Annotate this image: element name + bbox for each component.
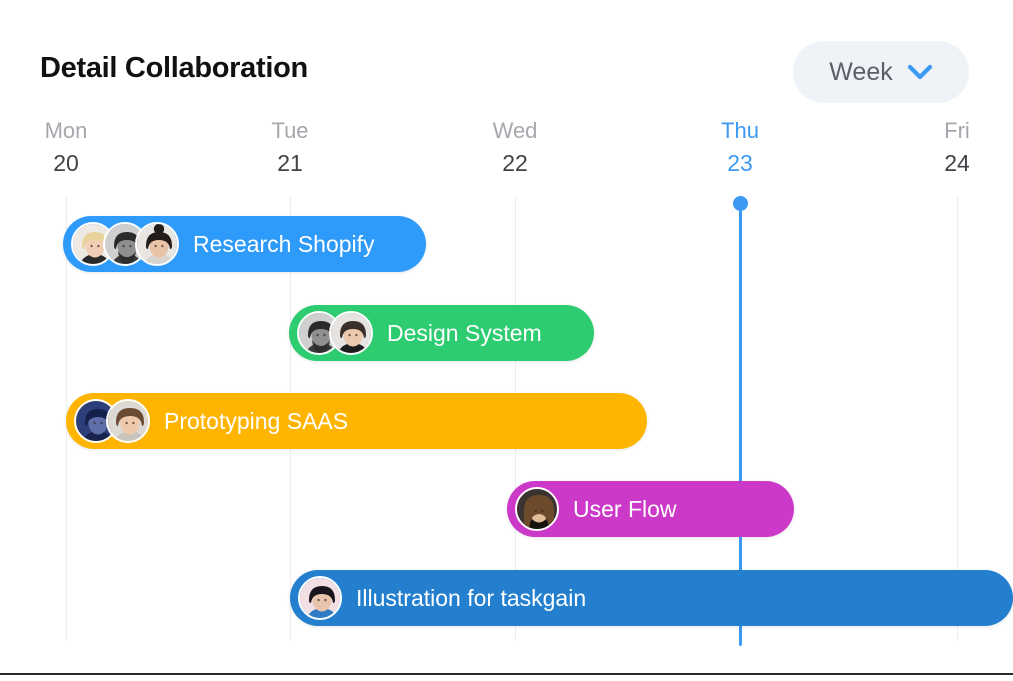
day-name: Tue	[230, 120, 350, 142]
task-bar[interactable]: User Flow	[507, 481, 794, 537]
avatar-group[interactable]	[74, 399, 150, 443]
avatar-group[interactable]	[298, 576, 342, 620]
day-number: 21	[230, 152, 350, 175]
task-bar[interactable]: Design System	[289, 305, 594, 361]
day-name: Mon	[6, 120, 126, 142]
chevron-down-icon	[907, 64, 933, 80]
gantt-timeline-panel: Detail Collaboration Week Mon20Tue21Wed2…	[0, 0, 1013, 681]
avatar-group[interactable]	[297, 311, 373, 355]
avatar-bun-woman[interactable]	[135, 222, 179, 266]
day-header-row: Mon20Tue21Wed22Thu23Fri24	[0, 120, 1013, 190]
day-column-mon[interactable]: Mon20	[6, 120, 126, 175]
day-number: 24	[897, 152, 1013, 175]
task-bar[interactable]: Prototyping SAAS	[66, 393, 647, 449]
avatar-curly-person[interactable]	[106, 399, 150, 443]
day-column-tue[interactable]: Tue21	[230, 120, 350, 175]
task-title: Research Shopify	[193, 233, 375, 256]
task-title: Prototyping SAAS	[164, 410, 348, 433]
day-number: 22	[455, 152, 575, 175]
day-name: Wed	[455, 120, 575, 142]
avatar-group[interactable]	[515, 487, 559, 531]
avatar-group[interactable]	[71, 222, 179, 266]
avatar-dark-hair-woman[interactable]	[298, 576, 342, 620]
today-indicator-dot	[733, 196, 748, 211]
task-title: User Flow	[573, 498, 677, 521]
range-selector-label: Week	[829, 60, 892, 85]
day-column-wed[interactable]: Wed22	[455, 120, 575, 175]
bottom-divider	[0, 673, 1013, 675]
day-number: 20	[6, 152, 126, 175]
day-number: 23	[680, 152, 800, 175]
page-title: Detail Collaboration	[40, 54, 308, 83]
task-bar[interactable]: Illustration for taskgain	[290, 570, 1013, 626]
day-column-thu[interactable]: Thu23	[680, 120, 800, 175]
avatar-long-hair-woman[interactable]	[515, 487, 559, 531]
task-title: Illustration for taskgain	[356, 587, 586, 610]
avatar-short-hair-woman[interactable]	[329, 311, 373, 355]
day-name: Thu	[680, 120, 800, 142]
day-column-fri[interactable]: Fri24	[897, 120, 1013, 175]
header: Detail Collaboration Week	[0, 0, 1013, 112]
range-selector-dropdown[interactable]: Week	[793, 41, 969, 103]
task-bar[interactable]: Research Shopify	[63, 216, 426, 272]
day-name: Fri	[897, 120, 1013, 142]
task-title: Design System	[387, 322, 542, 345]
